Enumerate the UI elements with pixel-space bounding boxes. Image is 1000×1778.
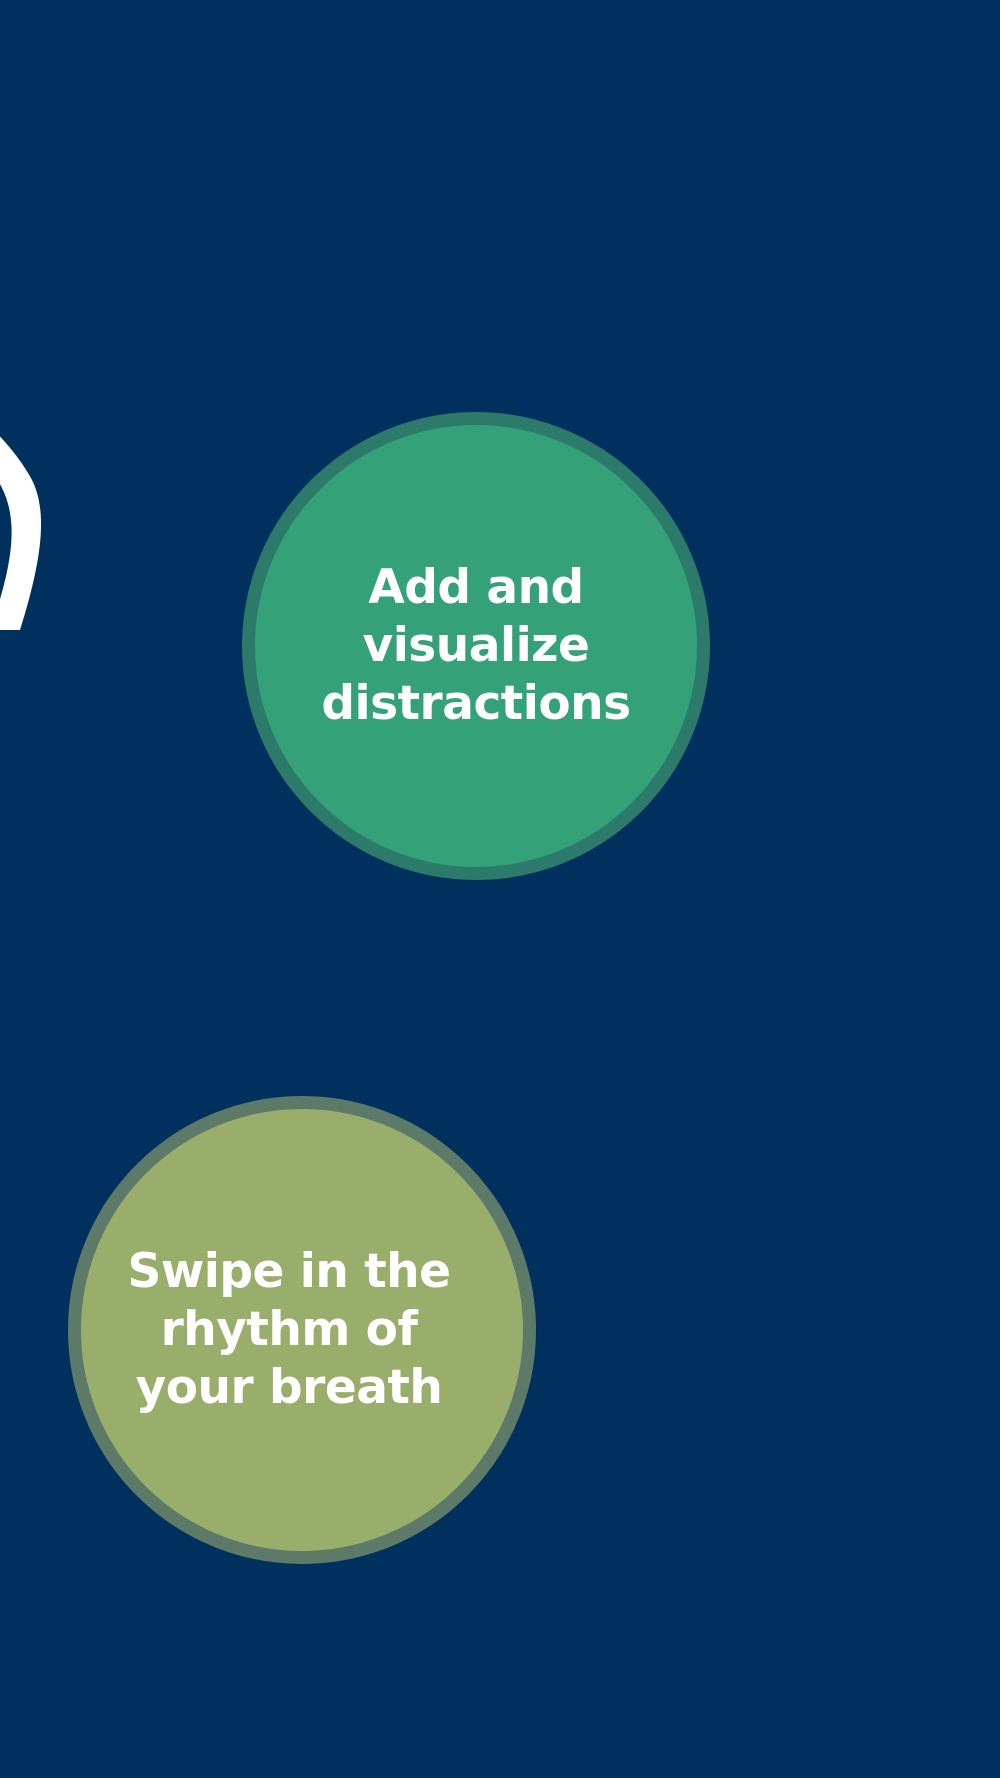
- onboarding-screen: Add andvisualizedistractions Swipe in th…: [0, 0, 1000, 1778]
- bubble-add-and-visualize-distractions[interactable]: Add andvisualizedistractions: [242, 412, 710, 880]
- bubble-label-distractions: Add andvisualizedistractions: [255, 559, 697, 732]
- bubble-label-breath: Swipe in therhythm ofyour breath: [68, 1243, 510, 1416]
- bubble-swipe-in-the-rhythm-of-your-breath[interactable]: Swipe in therhythm ofyour breath: [68, 1096, 536, 1564]
- white-wave-swoosh-icon: [0, 330, 70, 630]
